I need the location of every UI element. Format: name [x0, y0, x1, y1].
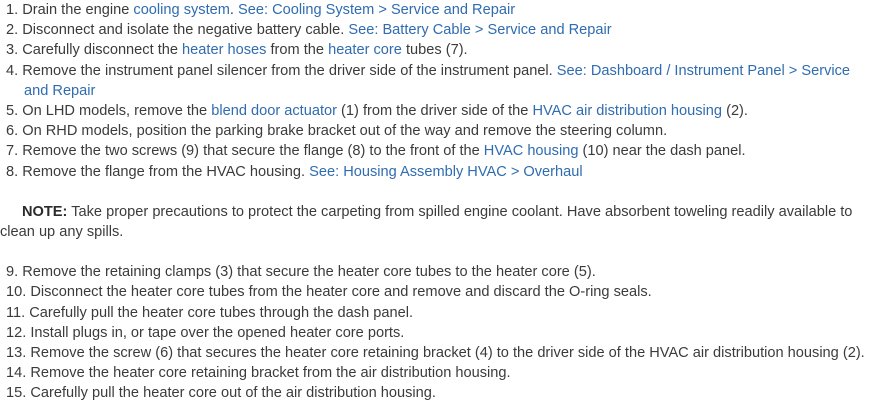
step-11: 11. Carefully pull the heater core tubes… [0, 303, 872, 323]
step-text: (1) from the driver side of the [337, 103, 532, 119]
step-link[interactable]: heater core [328, 42, 402, 58]
step-1: 1. Drain the engine cooling system. See:… [0, 0, 872, 20]
note-paragraph: NOTE: Take proper precautions to protect… [0, 202, 872, 242]
step-5: 5. On LHD models, remove the blend door … [0, 101, 872, 121]
step-number: 6. [6, 123, 22, 139]
step-text: Carefully disconnect the [22, 42, 182, 58]
step-7: 7. Remove the two screws (9) that secure… [0, 141, 872, 161]
step-number: 10. [6, 284, 30, 300]
step-link[interactable]: blend door actuator [211, 103, 337, 119]
step-number: 7. [6, 143, 22, 159]
step-text: Install plugs in, or tape over the opene… [30, 325, 404, 341]
step-number: 9. [6, 264, 22, 280]
step-10: 10. Disconnect the heater core tubes fro… [0, 282, 872, 302]
step-4: 4. Remove the instrument panel silencer … [0, 61, 872, 101]
step-number: 8. [6, 164, 22, 180]
step-link[interactable]: HVAC air distribution housing [532, 103, 722, 119]
step-text: . [230, 2, 238, 18]
step-number: 12. [6, 325, 30, 341]
step-text: from the [266, 42, 328, 58]
step-link[interactable]: heater hoses [182, 42, 266, 58]
step-text: On RHD models, position the parking brak… [22, 123, 667, 139]
step-number: 13. [6, 345, 30, 361]
step-text: Disconnect the heater core tubes from th… [30, 284, 651, 300]
step-link[interactable]: See: Battery Cable > Service and Repair [348, 22, 611, 38]
procedure-steps-upper: 1. Drain the engine cooling system. See:… [0, 0, 872, 182]
service-procedure-document: 1. Drain the engine cooling system. See:… [0, 0, 872, 404]
step-number: 5. [6, 103, 22, 119]
step-text: Remove the heater core retaining bracket… [30, 365, 510, 381]
step-13: 13. Remove the screw (6) that secures th… [0, 343, 872, 363]
step-link[interactable]: cooling system [133, 2, 230, 18]
step-link[interactable]: See: Cooling System > Service and Repair [238, 2, 515, 18]
step-number: 3. [6, 42, 22, 58]
step-number: 2. [6, 22, 22, 38]
step-number: 4. [6, 63, 22, 79]
step-text: Remove the screw (6) that secures the he… [30, 345, 864, 361]
step-12: 12. Install plugs in, or tape over the o… [0, 323, 872, 343]
step-text: Remove the retaining clamps (3) that sec… [22, 264, 596, 280]
step-3: 3. Carefully disconnect the heater hoses… [0, 40, 872, 60]
step-text: Drain the engine [22, 2, 133, 18]
note-block: NOTE: Take proper precautions to protect… [0, 202, 872, 242]
step-link[interactable]: See: Housing Assembly HVAC > Overhaul [309, 164, 583, 180]
step-link[interactable]: HVAC housing [484, 143, 579, 159]
step-6: 6. On RHD models, position the parking b… [0, 121, 872, 141]
step-text: Carefully pull the heater core tubes thr… [29, 305, 413, 321]
step-text: Disconnect and isolate the negative batt… [22, 22, 348, 38]
step-15: 15. Carefully pull the heater core out o… [0, 383, 872, 403]
step-text: On LHD models, remove the [22, 103, 211, 119]
step-text: Remove the flange from the HVAC housing. [22, 164, 309, 180]
step-8: 8. Remove the flange from the HVAC housi… [0, 162, 872, 182]
step-14: 14. Remove the heater core retaining bra… [0, 363, 872, 383]
step-text: tubes (7). [402, 42, 468, 58]
step-9: 9. Remove the retaining clamps (3) that … [0, 262, 872, 282]
note-text: Take proper precautions to protect the c… [0, 204, 852, 240]
step-text: (2). [722, 103, 748, 119]
step-number: 1. [6, 2, 22, 18]
step-number: 11. [6, 305, 29, 321]
spacer-below-note [0, 242, 872, 262]
step-text: (10) near the dash panel. [578, 143, 745, 159]
step-text: Carefully pull the heater core out of th… [30, 385, 436, 401]
step-number: 14. [6, 365, 30, 381]
step-text: Remove the instrument panel silencer fro… [22, 63, 557, 79]
step-number: 15. [6, 385, 30, 401]
step-text: Remove the two screws (9) that secure th… [22, 143, 484, 159]
step-2: 2. Disconnect and isolate the negative b… [0, 20, 872, 40]
procedure-steps-lower: 9. Remove the retaining clamps (3) that … [0, 262, 872, 403]
note-label: NOTE: [22, 204, 67, 220]
spacer-above-note [0, 182, 872, 202]
